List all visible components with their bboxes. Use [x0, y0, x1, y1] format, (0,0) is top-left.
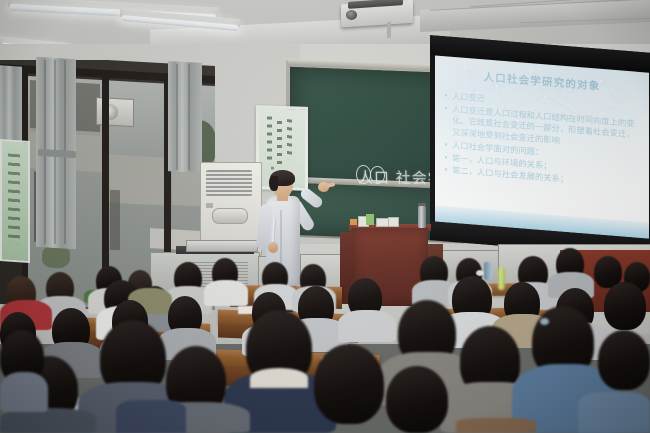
hair-clip: [476, 270, 484, 276]
ac-logo: [206, 203, 213, 208]
teacher-left-hand: [268, 242, 278, 253]
student-head: [604, 282, 646, 330]
projector-lens-icon: [346, 10, 357, 20]
eraser[interactable]: [350, 219, 357, 225]
thermos-flask[interactable]: [418, 206, 426, 228]
student-shoulders: [204, 280, 248, 306]
wall-poster-green: [0, 139, 30, 263]
thermos-cup[interactable]: [484, 262, 492, 280]
student-clothing-denim: [116, 400, 186, 433]
projection-screen: 人口社会学研究的对象 人口变迁 人口变迁是人口过程和人口结构在时间向度上的变化。…: [430, 35, 650, 258]
chalk-box[interactable]: [388, 217, 399, 227]
exterior-pillar: [110, 190, 120, 251]
counter-ledge: [186, 240, 258, 252]
hair-tie: [540, 318, 549, 325]
calligraphy-column: [267, 116, 272, 164]
classroom-photo: 人口 社会学 人口社会学研究的对象: [0, 0, 650, 433]
calligraphy-column: [277, 121, 282, 165]
exterior-foliage: [42, 245, 70, 269]
student-head-near: [598, 330, 650, 390]
curtain-right[interactable]: [168, 61, 202, 173]
student-shoulders-near: [0, 372, 48, 412]
teacher-hair-side: [269, 176, 278, 191]
student-head-near: [386, 366, 448, 433]
projector-mount: [387, 22, 391, 38]
student-head-near: [314, 344, 384, 424]
curtain-fold: [188, 64, 190, 170]
chalk-box-green[interactable]: [366, 214, 374, 225]
student-shoulders: [338, 310, 396, 342]
slide-bullet-list: 人口变迁 人口变迁是人口过程和人口结构在时间向度上的变化。它既是社会变迁的一部分…: [445, 90, 641, 193]
curtain-fold: [176, 64, 178, 170]
ac-vent-grille: [206, 170, 252, 196]
student-clothing-tan: [456, 418, 536, 433]
student-clothing-denim: [578, 392, 650, 433]
water-bottle[interactable]: [498, 268, 505, 290]
calligraphy-column: [287, 119, 292, 159]
student-collar-white: [250, 368, 308, 388]
ac-control-panel[interactable]: [212, 208, 248, 224]
presentation-slide: 人口社会学研究的对象 人口变迁 人口变迁是人口过程和人口结构在时间向度上的变化。…: [435, 55, 649, 238]
